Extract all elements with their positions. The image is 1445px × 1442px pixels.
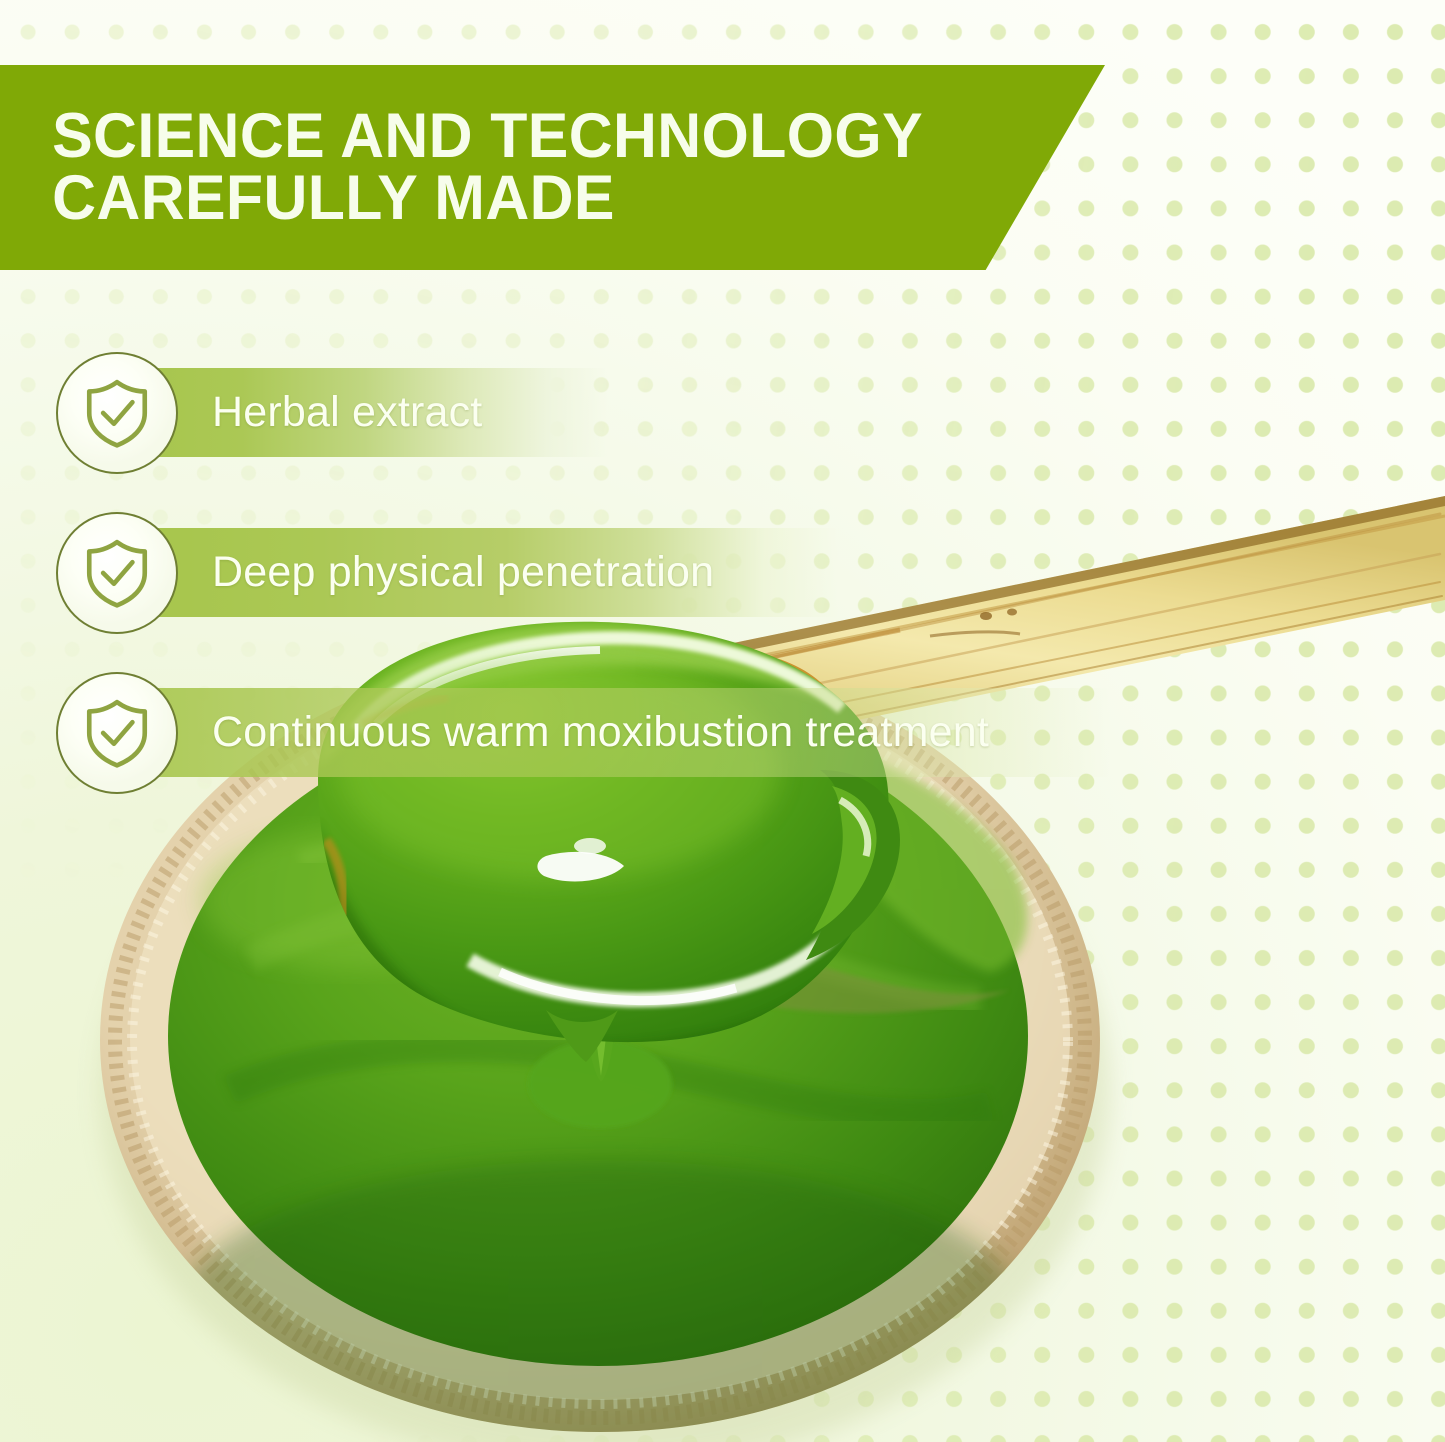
page-title: SCIENCE AND TECHNOLOGY CAREFULLY MADE (0, 106, 923, 228)
feature-badge-3 (56, 672, 178, 794)
feature-row-deep-physical-penetration: Deep physical penetration (100, 528, 714, 617)
feature-label: Deep physical penetration (212, 548, 714, 597)
shield-check-icon (80, 696, 154, 770)
feature-row-continuous-warm-moxibustion-treatment: Continuous warm moxibustion treatment (100, 688, 989, 777)
shield-check-icon (80, 536, 154, 610)
product-photo (0, 300, 1445, 1442)
feature-badge-2 (56, 512, 178, 634)
feature-label: Continuous warm moxibustion treatment (212, 708, 989, 757)
headline-banner: SCIENCE AND TECHNOLOGY CAREFULLY MADE (0, 65, 1105, 270)
product-feature-graphic: SCIENCE AND TECHNOLOGY CAREFULLY MADE He… (0, 0, 1445, 1442)
shield-check-icon (80, 376, 154, 450)
feature-badge-1 (56, 352, 178, 474)
feature-label: Herbal extract (212, 388, 482, 437)
